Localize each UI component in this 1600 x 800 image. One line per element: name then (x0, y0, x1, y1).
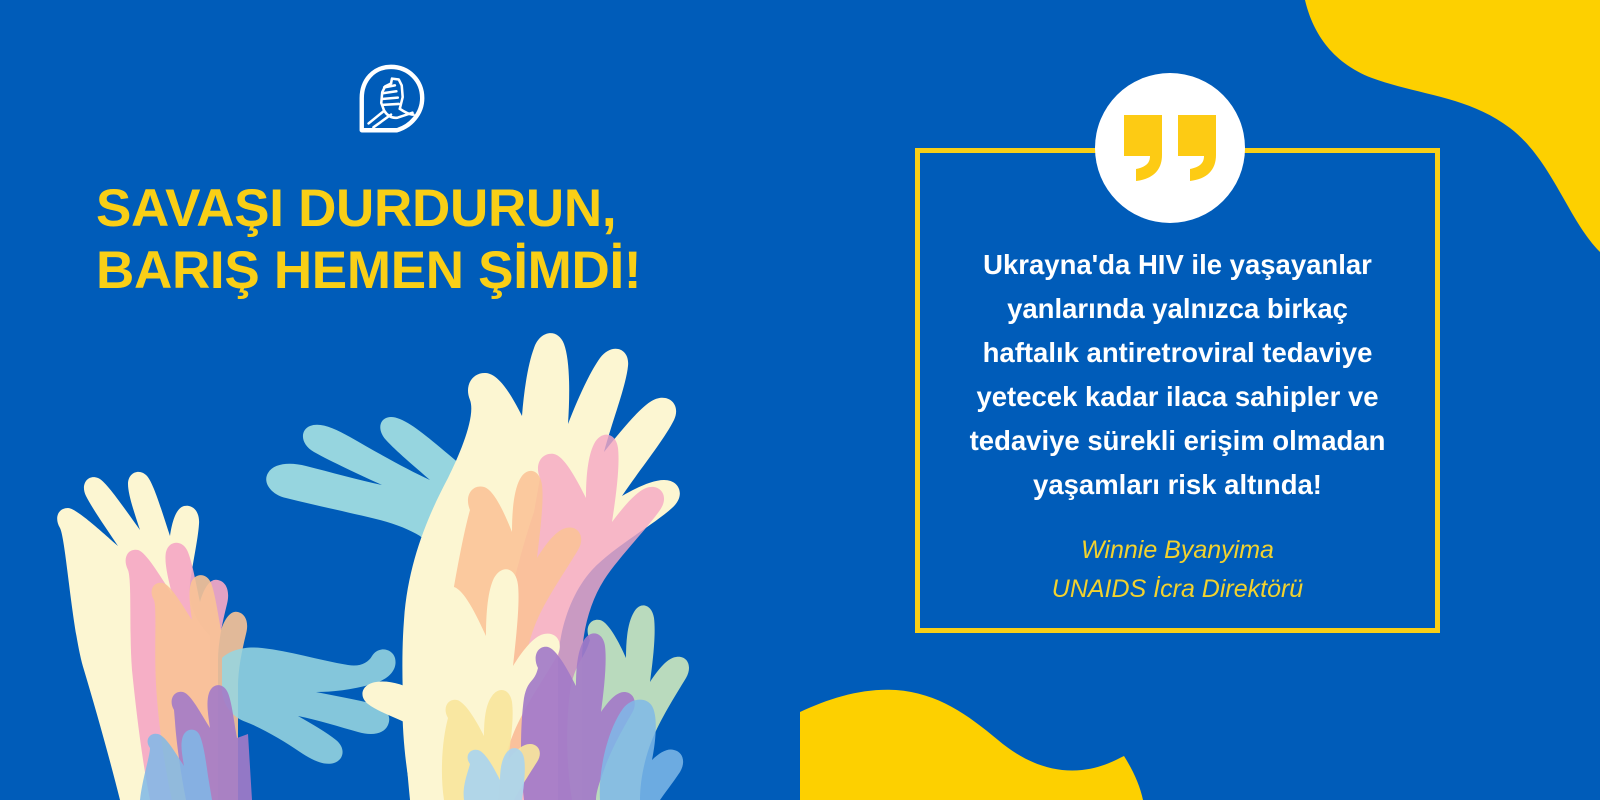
quote-text: Ukrayna'da HIV ile yaşayanlar yanlarında… (925, 243, 1430, 507)
author-title: UNAIDS İcra Direktörü (925, 570, 1430, 609)
quotation-mark-icon (1124, 115, 1216, 181)
hand-group-center (266, 333, 689, 800)
clasped-hands-solidarity-icon (352, 62, 430, 140)
hand-group-left (57, 472, 395, 800)
quote-line: yanlarında yalnızca birkaç (925, 287, 1430, 331)
yellow-wave-blob-bottom (800, 690, 1143, 800)
poster-canvas: SAVAŞI DURDURUN, BARIŞ HEMEN ŞİMDİ! Ukra… (0, 0, 1600, 800)
quote-attribution: Winnie Byanyima UNAIDS İcra Direktörü (925, 531, 1430, 609)
quote-line: yaşamları risk altında! (925, 463, 1430, 507)
page-title: SAVAŞI DURDURUN, BARIŞ HEMEN ŞİMDİ! (96, 178, 796, 302)
quote-badge (1095, 73, 1245, 223)
raised-hands-illustration (0, 240, 760, 800)
logo (352, 62, 430, 140)
quote-line: haftalık antiretroviral tedaviye (925, 331, 1430, 375)
quote-line: Ukrayna'da HIV ile yaşayanlar (925, 243, 1430, 287)
quote-line: yetecek kadar ilaca sahipler ve (925, 375, 1430, 419)
quote-line: tedaviye sürekli erişim olmadan (925, 419, 1430, 463)
author-name: Winnie Byanyima (925, 531, 1430, 570)
